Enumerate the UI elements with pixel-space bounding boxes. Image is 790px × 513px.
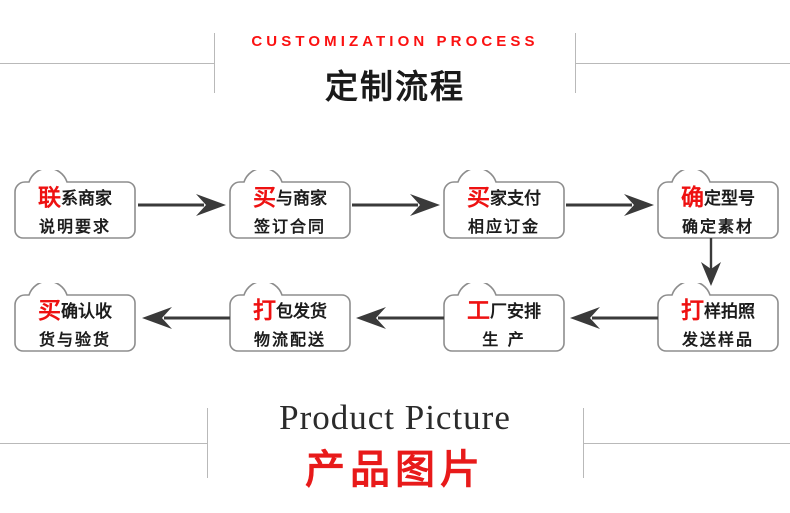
flow-step-8[interactable]: 买确认收 货与验货 — [13, 283, 137, 353]
step-bubble-shape — [656, 170, 780, 242]
flow-step-3[interactable]: 买家支付 相应订金 — [442, 170, 566, 240]
customization-process-banner: CUSTOMIZATION PROCESS 定制流程 联系商家 说明要求 买与商… — [0, 0, 790, 513]
footer-title-cn: 产品图片 — [0, 437, 790, 495]
arrow-step7-step8-icon — [138, 305, 230, 331]
flow-step-5[interactable]: 打样拍照 发送样品 — [656, 283, 780, 353]
arrow-step4-step5-icon — [698, 238, 724, 288]
flow-step-7[interactable]: 打包发货 物流配送 — [228, 283, 352, 353]
step-bubble-shape — [442, 283, 566, 355]
step-bubble-shape — [656, 283, 780, 355]
flow-step-4[interactable]: 确定型号 确定素材 — [656, 170, 780, 240]
header-eyebrow: CUSTOMIZATION PROCESS — [0, 33, 790, 50]
arrow-step6-step7-icon — [352, 305, 444, 331]
step-bubble-shape — [13, 283, 137, 355]
flow-step-2[interactable]: 买与商家 签订合同 — [228, 170, 352, 240]
step-bubble-shape — [13, 170, 137, 242]
arrow-step3-step4-icon — [566, 192, 658, 218]
flow-step-1[interactable]: 联系商家 说明要求 — [13, 170, 137, 240]
arrow-step5-step6-icon — [566, 305, 658, 331]
step-bubble-shape — [228, 170, 352, 242]
arrow-step2-step3-icon — [352, 192, 444, 218]
footer-title-en: Product Picture — [0, 398, 790, 438]
step-bubble-shape — [442, 170, 566, 242]
page-title: 定制流程 — [0, 60, 790, 108]
arrow-step1-step2-icon — [138, 192, 230, 218]
step-bubble-shape — [228, 283, 352, 355]
flow-step-6[interactable]: 工厂安排 生 产 — [442, 283, 566, 353]
